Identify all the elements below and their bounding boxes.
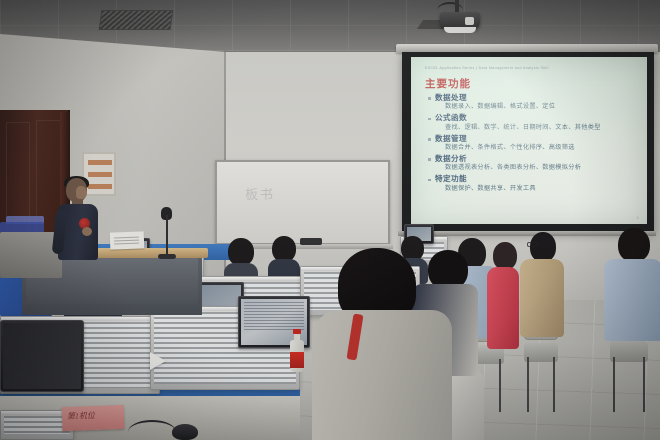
paper-triangle-marker xyxy=(150,352,166,370)
presenter-hand xyxy=(82,227,92,236)
podium-papers xyxy=(110,231,145,249)
chair-leg xyxy=(643,357,645,412)
attendee-seated xyxy=(518,232,566,350)
projector-lens xyxy=(465,17,474,25)
ceiling-vent xyxy=(99,10,174,30)
bottle-body xyxy=(290,340,304,372)
person-torso xyxy=(312,310,452,440)
slide-item-detail: 数据透视表分析、各类图表分析、数据模拟分析 xyxy=(427,164,641,172)
whiteboard: 板书 xyxy=(215,160,390,245)
slide-header-text: EXCEL Application Series | Data Manageme… xyxy=(425,66,637,70)
partition-louvre xyxy=(4,416,70,434)
slide-item: 特定功能 数据保护、数据共享、开发工具 xyxy=(427,175,641,193)
microphone-stand xyxy=(166,215,168,257)
slide-item-heading: 数据管理 xyxy=(427,135,641,144)
person-head xyxy=(493,242,517,270)
chair-leg xyxy=(613,357,615,412)
chair-leg xyxy=(499,359,501,412)
bottle-neck xyxy=(294,333,300,341)
projector-cable xyxy=(437,2,463,12)
chair-leg xyxy=(553,357,555,412)
chair-leg xyxy=(527,357,529,412)
person-torso xyxy=(604,259,660,341)
person-torso xyxy=(520,259,564,337)
slide-item-detail: 数据录入、数据编辑、格式设置、定位 xyxy=(427,103,641,111)
whiteboard-eraser xyxy=(300,238,322,245)
projection-screen: EXCEL Application Series | Data Manageme… xyxy=(402,52,654,232)
slide-item: 数据管理 数据合并、条件格式、个性化排序、高级筛选 xyxy=(427,135,641,153)
classroom-photo: 板书 EXCEL Application Series | Data Manag… xyxy=(0,0,660,440)
slide-item-heading: 数据分析 xyxy=(427,155,641,164)
monitor-screen-content xyxy=(244,302,304,330)
ceiling-projector xyxy=(440,12,480,29)
monitor-screen xyxy=(3,323,81,389)
presenter-face xyxy=(76,186,87,199)
slide-item: 公式函数 查找、逻辑、数学、统计、日期时间、文本、其他类型 xyxy=(427,114,641,132)
attendee-seated xyxy=(604,228,660,350)
coca-cola-bottle xyxy=(290,330,304,372)
monitor xyxy=(0,320,84,392)
pink-label-text: 第1机位 xyxy=(67,410,95,422)
presenter xyxy=(56,178,100,273)
slide-item-heading: 公式函数 xyxy=(427,114,641,123)
bottle-label xyxy=(290,352,304,368)
microphone-base xyxy=(158,254,176,259)
slide-item-detail: 数据保护、数据共享、开发工具 xyxy=(427,185,641,193)
slide-item-detail: 查找、逻辑、数学、统计、日期时间、文本、其他类型 xyxy=(427,124,641,132)
person-head xyxy=(618,228,650,262)
frame-stripe-1 xyxy=(88,160,112,165)
slide-bullet-list: 数据处理 数据录入、数据编辑、格式设置、定位 公式函数 查找、逻辑、数学、统计、… xyxy=(427,94,641,196)
pink-station-label: 第1机位 xyxy=(62,405,125,431)
slide-page-number: 1 xyxy=(637,215,639,220)
glasses-icon xyxy=(527,242,538,247)
person-head xyxy=(228,238,254,266)
slide-item: 数据分析 数据透视表分析、各类图表分析、数据模拟分析 xyxy=(427,155,641,173)
person-torso xyxy=(487,267,519,349)
bottle-cap xyxy=(293,329,301,334)
computer-mouse[interactable] xyxy=(172,424,198,440)
slide-item-detail: 数据合并、条件格式、个性化排序、高级筛选 xyxy=(427,144,641,152)
frame-stripe-2 xyxy=(88,172,112,177)
attendee-foreground xyxy=(316,248,448,440)
person-head xyxy=(530,232,556,262)
slide-item-heading: 特定功能 xyxy=(427,175,641,184)
whiteboard-writing: 板书 xyxy=(245,184,365,218)
slide-title: 主要功能 xyxy=(425,76,471,91)
slide-item: 数据处理 数据录入、数据编辑、格式设置、定位 xyxy=(427,94,641,112)
slide-item-heading: 数据处理 xyxy=(427,94,641,103)
presentation-slide: EXCEL Application Series | Data Manageme… xyxy=(411,57,647,224)
